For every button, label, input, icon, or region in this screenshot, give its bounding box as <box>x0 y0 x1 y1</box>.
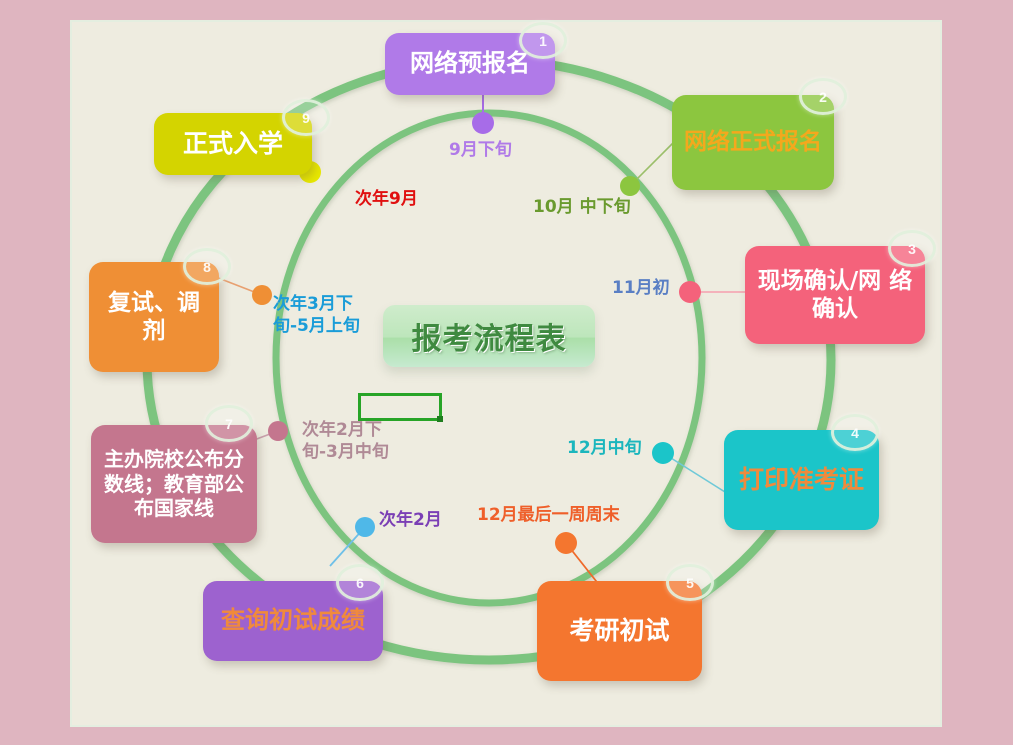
time-label-3: 11月初 <box>612 277 670 299</box>
step-badge-9-number: 9 <box>302 110 310 126</box>
center-title-box: 报考流程表 <box>383 305 595 367</box>
step-node-7-label: 主办院校公布分 数线；教育部公 布国家线 <box>99 447 249 520</box>
step-node-4-label: 打印准考证 <box>732 465 871 496</box>
center-title-text: 报考流程表 <box>412 314 567 358</box>
step-node-6-label: 查询初试成绩 <box>211 606 375 635</box>
step-node-3-label: 现场确认/网 络确认 <box>753 267 917 323</box>
step-badge-2-number: 2 <box>819 89 827 105</box>
step-badge-6-number: 6 <box>356 575 364 591</box>
step-badge-8: 8 <box>183 248 231 285</box>
step-badge-5: 5 <box>666 564 714 601</box>
step-badge-7-number: 7 <box>225 416 233 432</box>
step-badge-5-number: 5 <box>686 575 694 591</box>
step-badge-7: 7 <box>205 405 253 442</box>
step-badge-1: 1 <box>519 22 567 59</box>
step-badge-3-number: 3 <box>908 241 916 257</box>
time-label-9: 次年9月 <box>355 188 418 210</box>
step-badge-4: 4 <box>831 414 879 451</box>
step-badge-8-number: 8 <box>203 259 211 275</box>
step-badge-9: 9 <box>282 99 330 136</box>
step-badge-2: 2 <box>799 78 847 115</box>
time-label-8: 次年3月下 旬-5月上旬 <box>273 293 360 337</box>
step-node-8-label: 复试、调剂 <box>97 289 211 345</box>
diagram-stage: 网络预报名 1 网络正式报名 2 现场确认/网 络确认 3 打印准考证 4 考研… <box>0 0 1013 745</box>
time-label-5: 12月最后一周周末 <box>477 504 620 526</box>
time-label-4: 12月中旬 <box>567 437 642 459</box>
step-badge-4-number: 4 <box>851 425 859 441</box>
time-label-6: 次年2月 <box>379 509 442 531</box>
selection-rectangle[interactable] <box>358 393 442 421</box>
resize-handle[interactable] <box>437 416 443 422</box>
step-node-1-label: 网络预报名 <box>393 49 547 78</box>
step-badge-1-number: 1 <box>539 33 547 49</box>
step-badge-6: 6 <box>336 564 384 601</box>
time-label-7: 次年2月下 旬-3月中旬 <box>302 419 389 463</box>
step-node-9-label: 正式入学 <box>162 129 304 160</box>
step-node-2-label: 网络正式报名 <box>680 128 826 156</box>
step-node-5-label: 考研初试 <box>545 616 694 647</box>
time-label-1: 9月下旬 <box>449 139 512 161</box>
time-label-2: 10月 中下旬 <box>533 196 631 218</box>
step-badge-3: 3 <box>888 230 936 267</box>
step-node-7[interactable]: 主办院校公布分 数线；教育部公 布国家线 <box>91 425 257 543</box>
